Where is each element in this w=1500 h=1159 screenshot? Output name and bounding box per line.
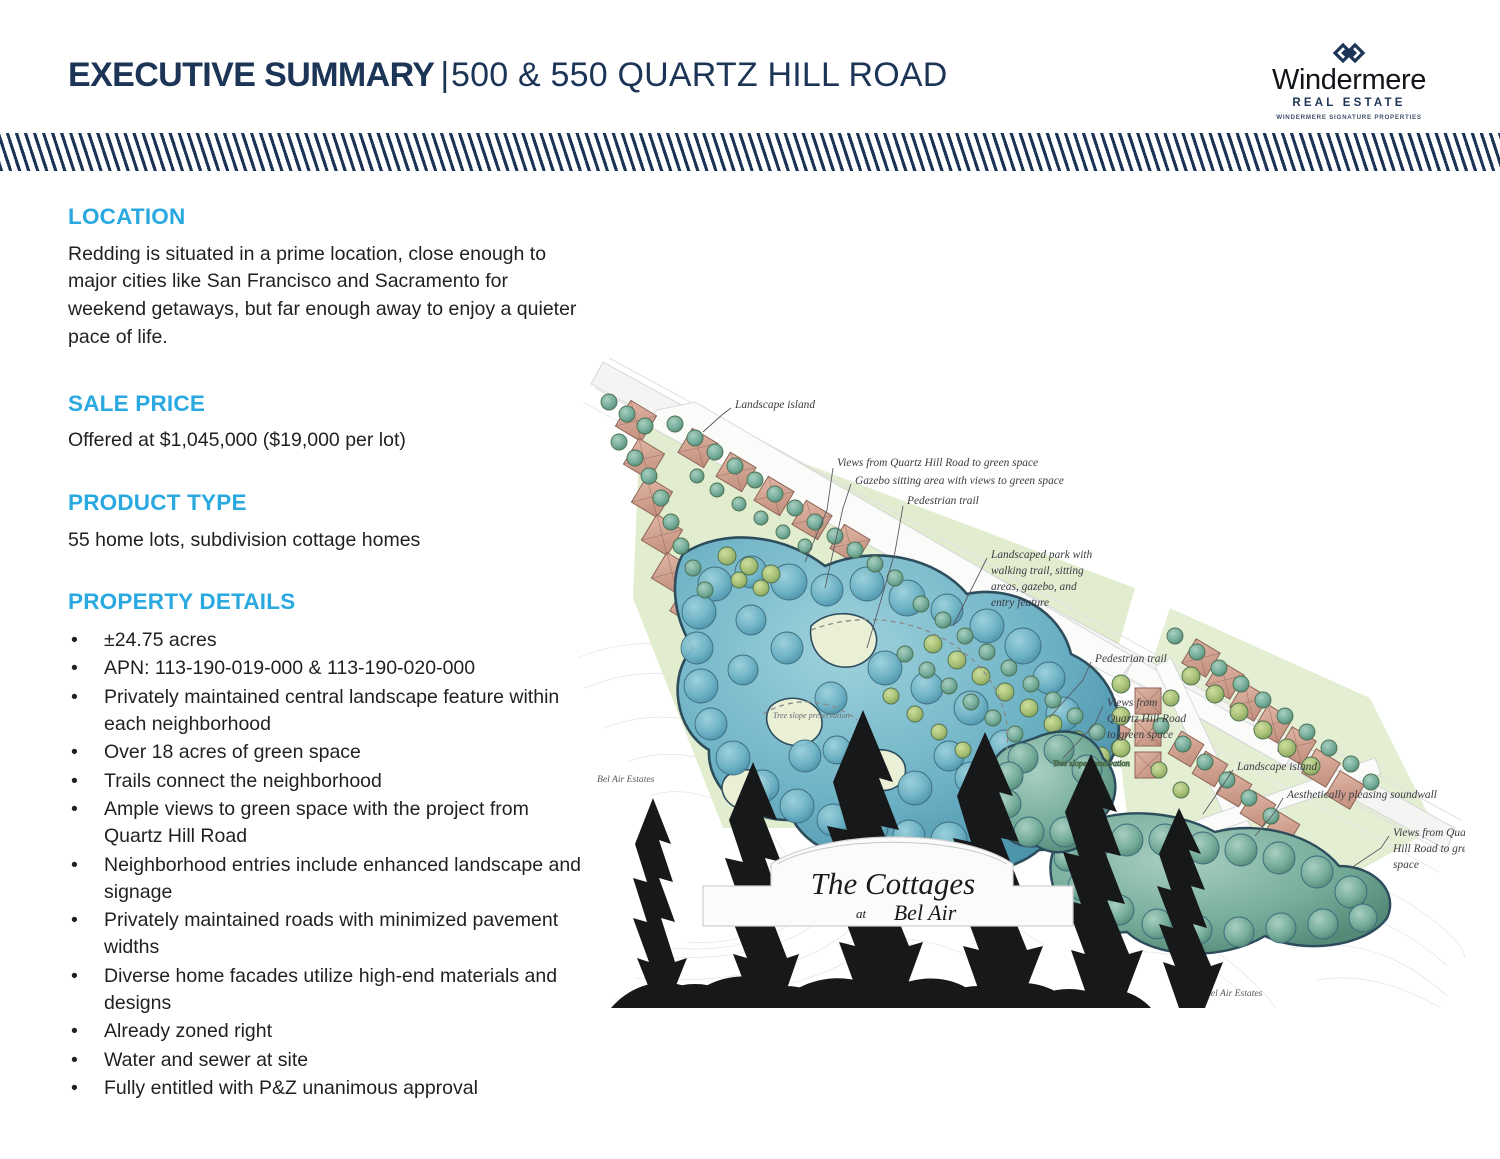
property-detail-item: •Already zoned right: [68, 1018, 588, 1045]
callout-views-quartz-hill: Views from Quartz Hill Road to green spa…: [837, 457, 1038, 469]
page-title-separator: |: [434, 56, 451, 94]
property-details-list: •±24.75 acres•APN: 113-190-019-000 & 113…: [68, 627, 588, 1102]
callout-soundwall: Aesthetically pleasing soundwall: [1286, 789, 1437, 801]
property-detail-item: •Over 18 acres of green space: [68, 739, 588, 766]
callout-pedestrian-trail-1: Pedestrian trail: [906, 495, 979, 507]
windermere-logo: Windermere REAL ESTATE WINDERMERE SIGNAT…: [1256, 42, 1442, 121]
product-type-body: 55 home lots, subdivision cottage homes: [68, 527, 588, 555]
bullet-glyph: •: [71, 907, 78, 934]
diagonal-stripe-divider: [0, 133, 1500, 171]
property-detail-item: •Fully entitled with P&Z unanimous appro…: [68, 1075, 588, 1102]
bullet-glyph: •: [71, 684, 78, 711]
logo-tagline: WINDERMERE SIGNATURE PROPERTIES: [1256, 114, 1442, 121]
site-plan-illustration: Stone Canyon Dr.: [575, 358, 1465, 1008]
content-column: LOCATION Redding is situated in a prime …: [68, 205, 588, 1103]
property-detail-text: Water and sewer at site: [104, 1049, 308, 1071]
property-detail-text: Neighborhood entries include enhanced la…: [104, 854, 581, 903]
bullet-glyph: •: [71, 852, 78, 879]
callout-landscape-island-1: Landscape island: [734, 399, 815, 411]
property-detail-text: Fully entitled with P&Z unanimous approv…: [104, 1077, 478, 1099]
property-detail-text: Diverse home facades utilize high-end ma…: [104, 965, 557, 1014]
logo-wordmark: Windermere: [1256, 65, 1442, 95]
callout-views-from-l3: to green space: [1107, 729, 1173, 741]
callout-views-quartz-hill-l2: Hill Road to green: [1392, 843, 1465, 855]
callout-views-quartz-hill-l3: space: [1393, 859, 1419, 871]
location-heading: LOCATION: [68, 205, 588, 230]
page-title: EXECUTIVE SUMMARY|500 & 550 QUARTZ HILL …: [68, 58, 948, 92]
bullet-glyph: •: [71, 739, 78, 766]
bullet-glyph: •: [71, 768, 78, 795]
property-detail-item: •±24.75 acres: [68, 627, 588, 654]
bullet-glyph: •: [71, 627, 78, 654]
property-detail-text: Ample views to green space with the proj…: [104, 798, 529, 847]
entry-sign-small: at: [856, 906, 867, 921]
property-detail-text: Privately maintained central landscape f…: [104, 686, 559, 735]
property-detail-text: Privately maintained roads with minimize…: [104, 909, 558, 958]
location-body: Redding is situated in a prime location,…: [68, 241, 588, 352]
map-label-tree-preservation-1: Tree slope preservation: [773, 711, 850, 720]
callout-gazebo-sitting-area: Gazebo sitting area with views to green …: [855, 475, 1064, 487]
entry-sign-line2: Bel Air: [894, 900, 957, 925]
section-product-type: PRODUCT TYPE 55 home lots, subdivision c…: [68, 491, 588, 554]
bullet-glyph: •: [71, 655, 78, 682]
property-detail-text: Already zoned right: [104, 1020, 272, 1042]
spacer: [68, 352, 588, 392]
sale-price-body: Offered at $1,045,000 ($19,000 per lot): [68, 427, 588, 455]
spacer: [68, 455, 588, 491]
callout-pedestrian-trail-2: Pedestrian trail: [1094, 653, 1167, 665]
callout-landscaped-park-l3: areas, gazebo, and: [991, 581, 1077, 593]
property-detail-item: •Diverse home facades utilize high-end m…: [68, 963, 588, 1018]
map-label-bel-air-estates-1: Bel Air Estates: [597, 774, 655, 785]
section-sale-price: SALE PRICE Offered at $1,045,000 ($19,00…: [68, 392, 588, 455]
callout-views-from-l2: Quartz Hill Road: [1107, 713, 1186, 725]
callout-views-from-l1: Views from: [1107, 697, 1157, 709]
page-title-bold: EXECUTIVE SUMMARY: [68, 56, 434, 94]
site-plan-svg: Stone Canyon Dr.: [575, 358, 1465, 1008]
property-detail-text: APN: 113-190-019-000 & 113-190-020-000: [104, 657, 475, 679]
callout-views-quartz-hill-l1: Views from Quartz: [1393, 827, 1465, 839]
bullet-glyph: •: [71, 963, 78, 990]
bullet-glyph: •: [71, 796, 78, 823]
page-title-address: 500 & 550 QUARTZ HILL ROAD: [451, 56, 948, 94]
bullet-glyph: •: [71, 1075, 78, 1102]
property-detail-item: •Ample views to green space with the pro…: [68, 796, 588, 851]
property-detail-item: •Trails connect the neighborhood: [68, 768, 588, 795]
spacer: [68, 554, 588, 590]
callout-landscaped-park-l4: entry feature: [991, 597, 1049, 609]
property-detail-text: ±24.75 acres: [104, 629, 217, 651]
sale-price-heading: SALE PRICE: [68, 392, 588, 417]
property-details-heading: PROPERTY DETAILS: [68, 590, 588, 615]
callout-landscaped-park-l2: walking trail, sitting: [991, 565, 1084, 577]
product-type-heading: PRODUCT TYPE: [68, 491, 588, 516]
property-detail-item: •Privately maintained central landscape …: [68, 684, 588, 739]
map-label-bel-air-estates-2: Bel Air Estates: [1205, 988, 1263, 999]
section-location: LOCATION Redding is situated in a prime …: [68, 205, 588, 352]
callout-landscaped-park-l1: Landscaped park with: [990, 549, 1093, 561]
property-detail-item: •APN: 113-190-019-000 & 113-190-020-000: [68, 655, 588, 682]
callout-landscape-island-2: Landscape island: [1236, 761, 1317, 773]
property-detail-text: Over 18 acres of green space: [104, 741, 361, 763]
windermere-diamond-mark-icon: [1319, 42, 1379, 64]
section-property-details: PROPERTY DETAILS •±24.75 acres•APN: 113-…: [68, 590, 588, 1102]
property-detail-item: •Privately maintained roads with minimiz…: [68, 907, 588, 962]
bullet-glyph: •: [71, 1018, 78, 1045]
bullet-glyph: •: [71, 1047, 78, 1074]
property-detail-item: •Water and sewer at site: [68, 1047, 588, 1074]
entry-sign-line1: The Cottages: [811, 866, 975, 901]
property-detail-text: Trails connect the neighborhood: [104, 770, 382, 792]
property-detail-item: •Neighborhood entries include enhanced l…: [68, 852, 588, 907]
logo-subtitle: REAL ESTATE: [1256, 97, 1442, 109]
page-header: EXECUTIVE SUMMARY|500 & 550 QUARTZ HILL …: [0, 0, 1500, 130]
